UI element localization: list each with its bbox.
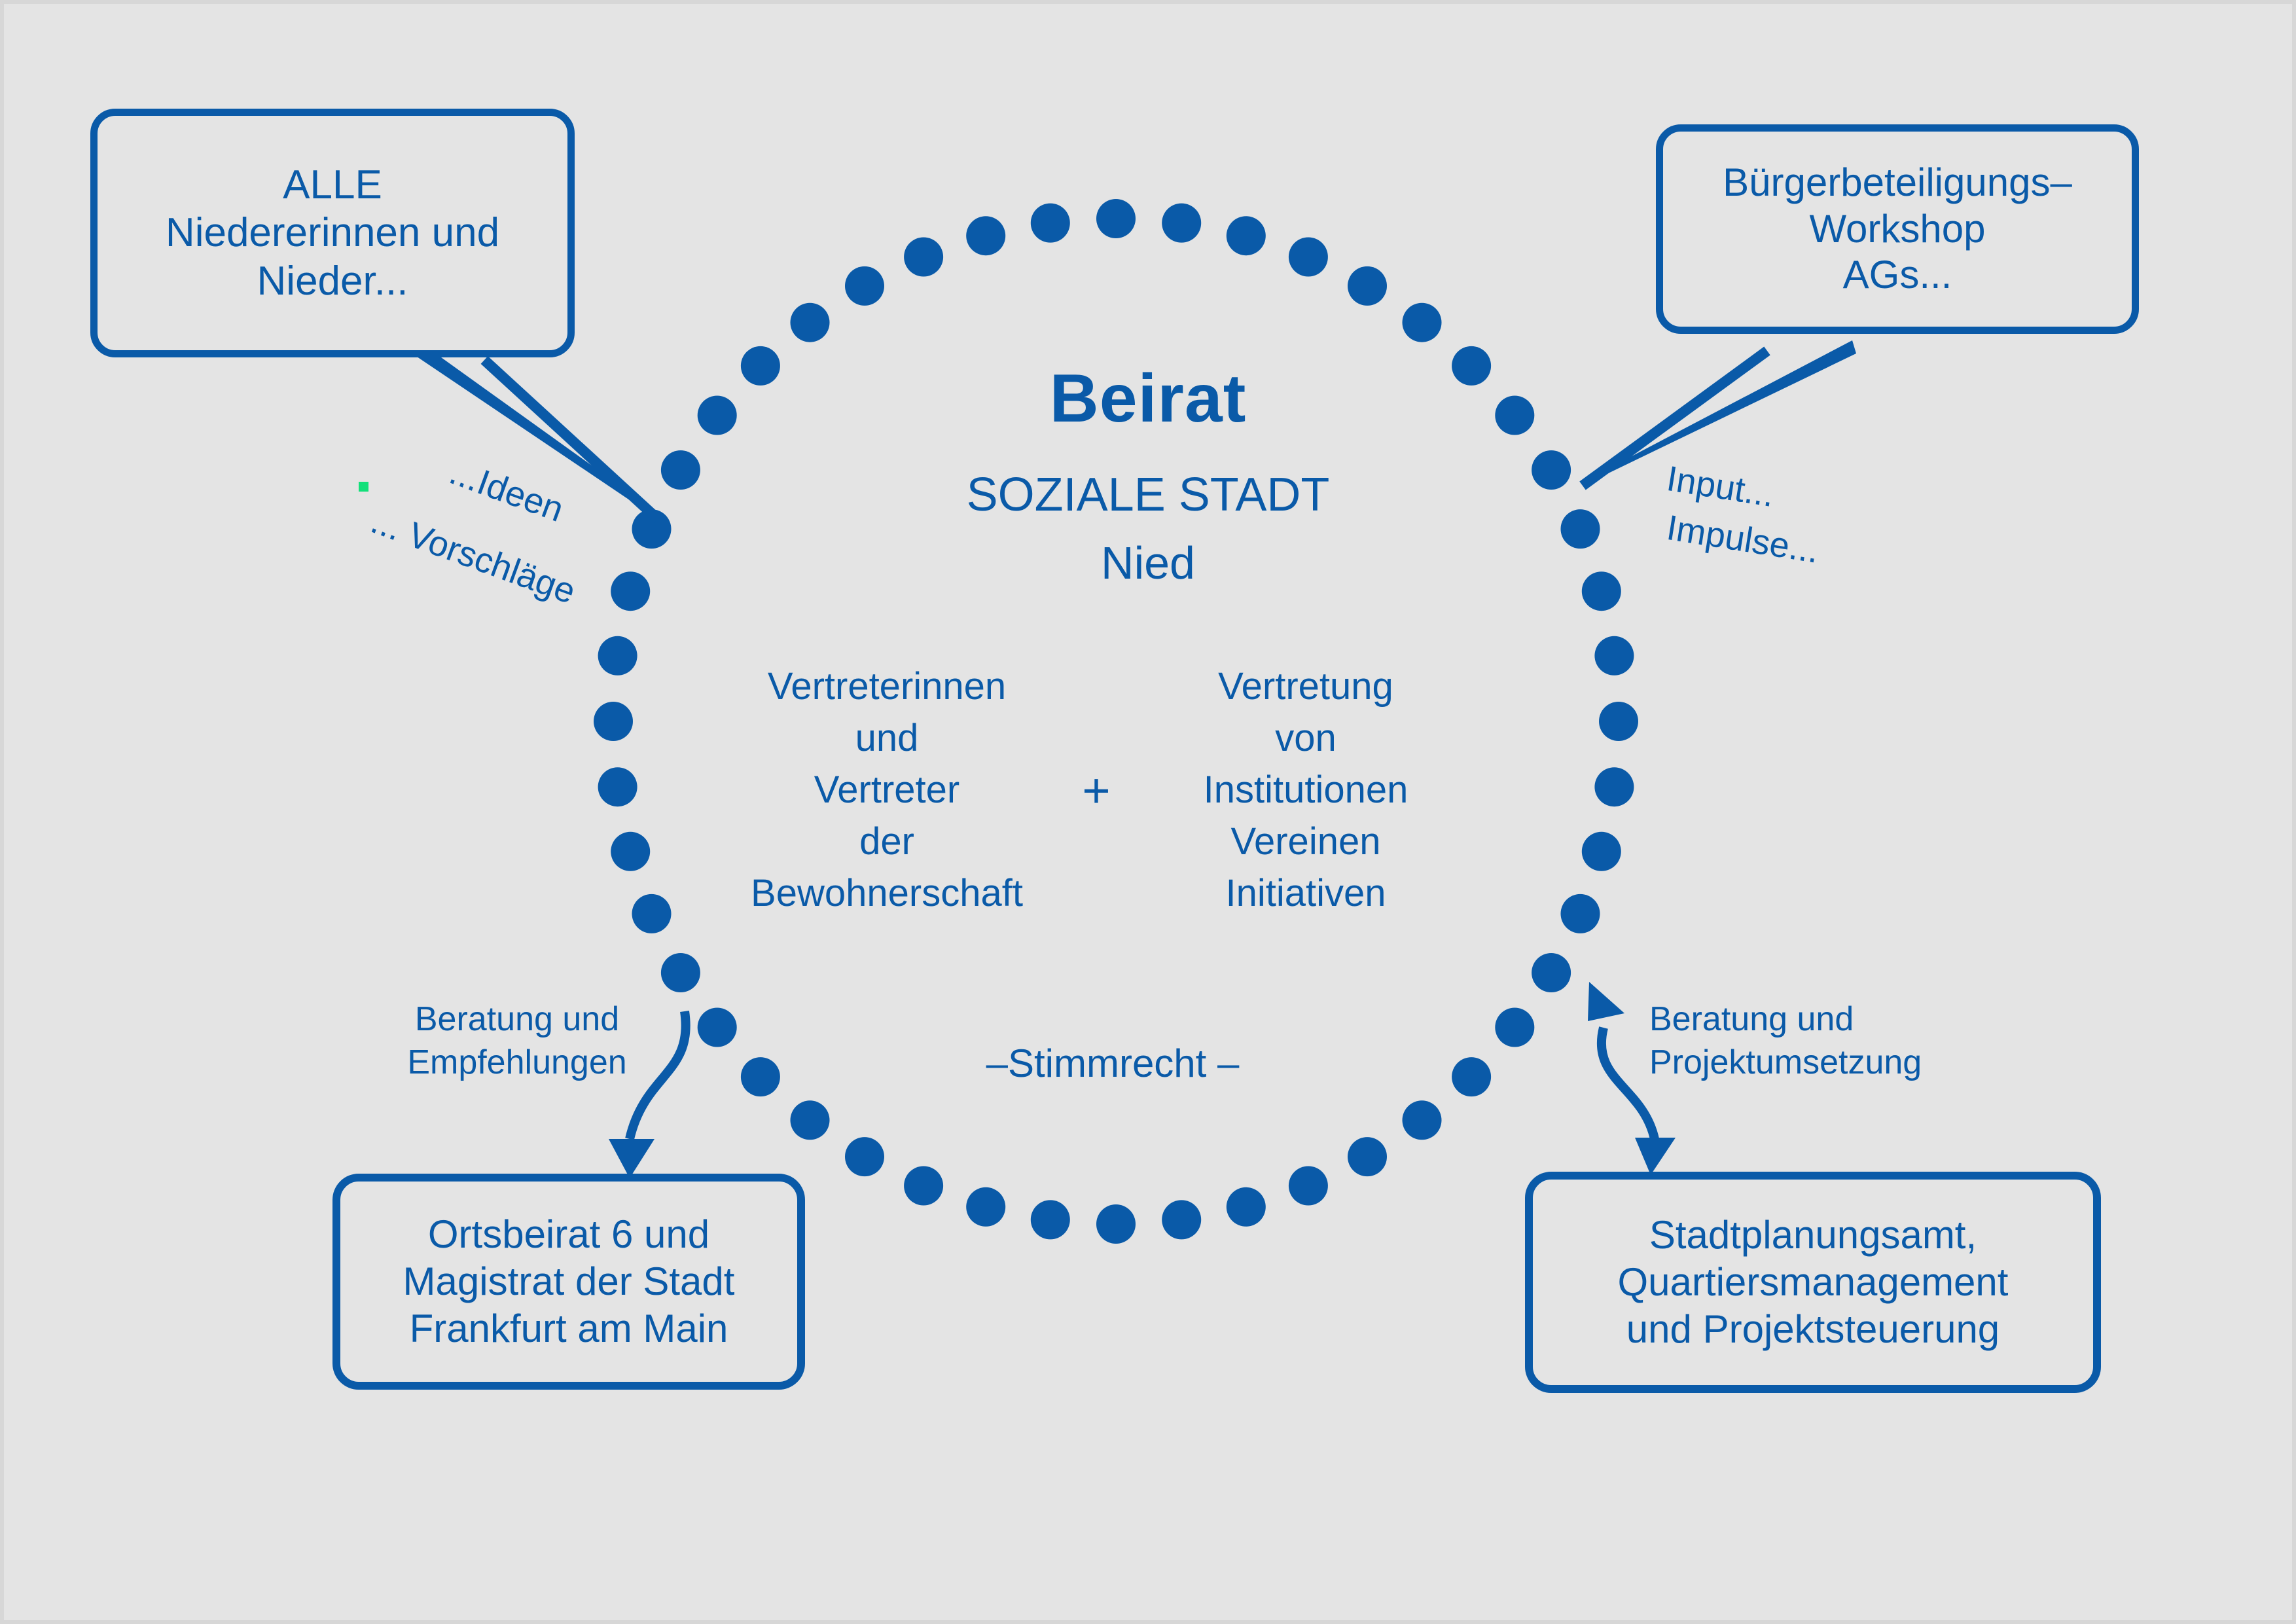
circle-dot — [1561, 894, 1600, 933]
circle-dot — [791, 303, 830, 342]
box-stadtplanungsamt-text: Stadtplanungsamt, Quartiersmanagement un… — [1600, 1212, 2027, 1353]
circle-dot — [698, 1008, 737, 1047]
circle-dot — [1227, 216, 1266, 255]
box-ortsbeirat-magistrat[interactable]: Ortsbeirat 6 und Magistrat der Stadt Fra… — [332, 1174, 805, 1390]
circle-dot — [845, 1137, 884, 1176]
circle-dot — [594, 702, 633, 741]
center-subtitle-line1: SOZIALE STADT — [0, 468, 2296, 522]
circle-dot — [1495, 1008, 1534, 1047]
column-residents: Vertreterinnen und Vertreter der Bewohne… — [717, 661, 1057, 919]
circle-dot — [598, 636, 637, 676]
circle-dot — [845, 266, 884, 306]
circle-dot — [1594, 767, 1634, 806]
center-columns: Vertreterinnen und Vertreter der Bewohne… — [674, 661, 1518, 919]
box-ortsbeirat-magistrat-text: Ortsbeirat 6 und Magistrat der Stadt Fra… — [385, 1211, 753, 1352]
circle-dot — [1452, 1057, 1491, 1096]
circle-dot — [1594, 636, 1634, 676]
voting-rights-note: –Stimmrecht – — [838, 1041, 1388, 1086]
column-institutions: Vertretung von Institutionen Vereinen In… — [1136, 661, 1476, 919]
arrow-left-head — [609, 1139, 655, 1178]
circle-dot — [1096, 1204, 1136, 1244]
arrow-right-head-down — [1635, 1138, 1676, 1175]
circle-dot — [1031, 204, 1070, 243]
box-stadtplanungsamt[interactable]: Stadtplanungsamt, Quartiersmanagement un… — [1525, 1172, 2101, 1393]
label-beratung-projektumsetzung: Beratung und Projektumsetzung — [1649, 998, 1957, 1084]
circle-dot — [661, 953, 700, 992]
circle-dot — [1162, 1200, 1201, 1239]
diagram-canvas: ALLE Niedererinnen und Nieder... Bürgerb… — [0, 0, 2296, 1624]
circle-dot — [632, 894, 672, 933]
arrow-right-head-up — [1588, 982, 1624, 1021]
circle-dot — [741, 1057, 780, 1096]
circle-dot — [1348, 266, 1387, 306]
speech-bubble-left-text: ALLE Niedererinnen und Nieder... — [150, 161, 515, 304]
circle-dot — [966, 1187, 1005, 1227]
speech-bubble-right-text: Bürgerbeteiligungs– Workshop AGs... — [1707, 160, 2088, 298]
circle-dot — [1031, 1200, 1070, 1239]
circle-dot — [904, 1166, 943, 1206]
speech-bubble-left[interactable]: ALLE Niedererinnen und Nieder... — [90, 109, 575, 357]
center-subtitle-line2: Nied — [0, 537, 2296, 589]
circle-dot — [1403, 1100, 1442, 1140]
circle-dot — [1096, 199, 1136, 238]
circle-dot — [1403, 303, 1442, 342]
circle-dot — [611, 832, 650, 871]
circle-dot — [1289, 1166, 1328, 1206]
circle-dot — [1227, 1187, 1266, 1227]
center-title: Beirat — [0, 360, 2296, 438]
circle-dot — [1162, 204, 1201, 243]
label-beratung-empfehlungen: Beratung und Empfehlungen — [386, 998, 648, 1084]
circle-dot — [966, 216, 1005, 255]
circle-dot — [598, 767, 637, 806]
circle-dot — [1599, 702, 1638, 741]
arrow-right-advice — [1602, 1028, 1655, 1139]
speech-bubble-right[interactable]: Bürgerbeteiligungs– Workshop AGs... — [1656, 124, 2139, 334]
circle-dot — [904, 238, 943, 277]
circle-dot — [1289, 238, 1328, 277]
circle-dot — [1532, 953, 1571, 992]
green-marker-dot — [359, 482, 368, 492]
circle-dot — [791, 1100, 830, 1140]
circle-dot — [1582, 832, 1621, 871]
plus-operator: + — [1057, 763, 1136, 818]
circle-dot — [1348, 1137, 1387, 1176]
